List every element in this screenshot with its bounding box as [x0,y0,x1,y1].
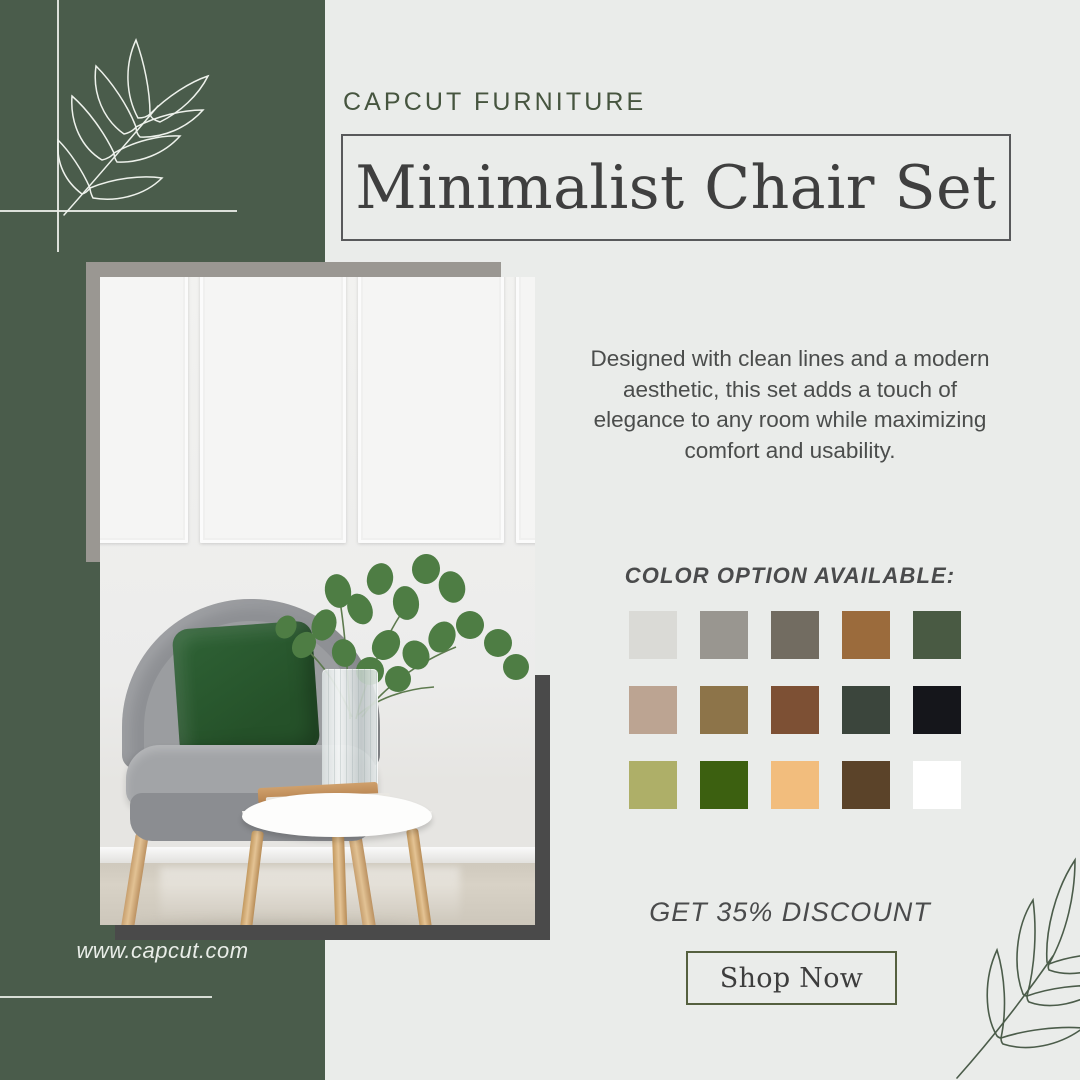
color-swatch-copper-ochre[interactable] [842,611,890,659]
color-swatch-slate-green[interactable] [842,686,890,734]
color-swatch-grid [629,611,961,809]
poster-canvas: www.capcut.com CAPCUT FURNITURE Minimali… [0,0,1080,1080]
color-swatch-warm-gray[interactable] [700,611,748,659]
wall-panel [358,277,504,543]
discount-text: GET 35% DISCOUNT [575,897,1005,928]
color-swatch-peach-sand[interactable] [771,761,819,809]
olive-branch-corner-icon [949,816,1080,1080]
color-swatch-light-gray[interactable] [629,611,677,659]
color-swatch-forest-green[interactable] [913,611,961,659]
wall-panel [100,277,188,543]
color-swatch-olive-brown[interactable] [700,686,748,734]
page-title: Minimalist Chair Set [355,153,996,223]
product-description: Designed with clean lines and a modern a… [575,344,1005,466]
color-swatch-dark-taupe[interactable] [771,611,819,659]
product-photo [100,277,535,925]
url-underline-rule [0,996,212,998]
shop-now-label: Shop Now [720,963,863,994]
baseboard [100,847,535,863]
wall-panel [200,277,346,543]
website-url-label: www.capcut.com [76,938,248,963]
color-swatch-rust-brown[interactable] [771,686,819,734]
shop-now-button[interactable]: Shop Now [686,951,897,1005]
color-options-label: COLOR OPTION AVAILABLE: [575,563,1005,589]
glass-vase [322,669,378,801]
color-swatch-deep-green[interactable] [700,761,748,809]
vase-ribbing [322,669,378,801]
olive-branch-icon [40,10,260,225]
color-swatch-dark-brown[interactable] [842,761,890,809]
table-top [242,793,432,837]
color-swatch-white[interactable] [913,761,961,809]
brand-eyebrow: CAPCUT FURNITURE [343,88,646,117]
wall-panel [516,277,535,543]
color-swatch-near-black[interactable] [913,686,961,734]
color-swatch-tan-blush[interactable] [629,686,677,734]
website-url[interactable]: www.capcut.com [0,938,325,964]
color-swatch-sage-olive[interactable] [629,761,677,809]
page-title-box: Minimalist Chair Set [341,134,1011,241]
